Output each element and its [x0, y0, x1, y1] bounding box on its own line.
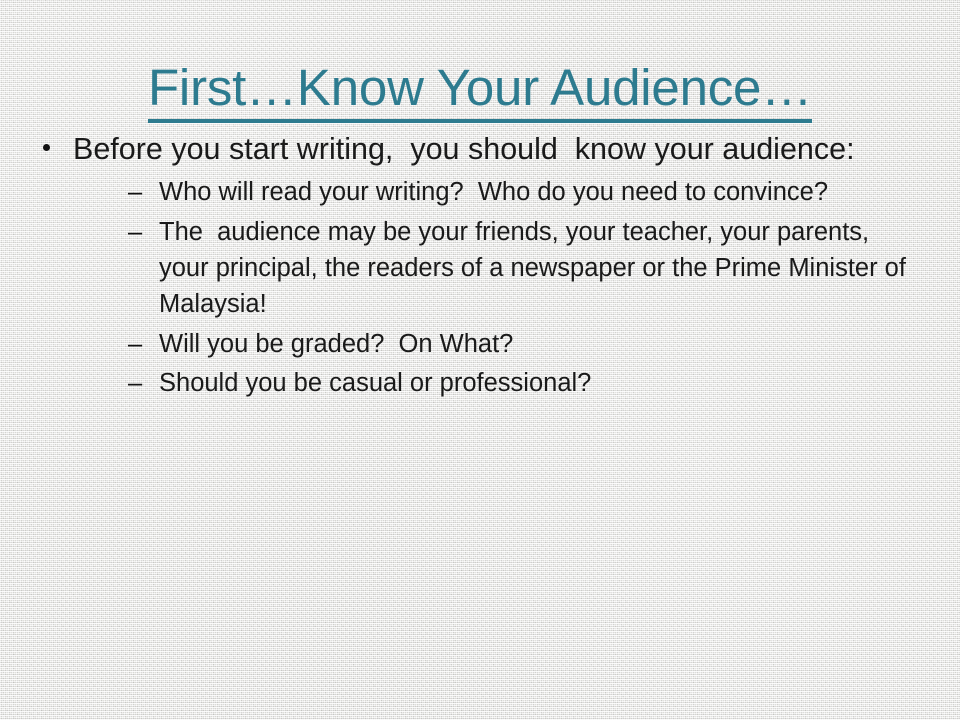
en-dash-bullet-icon: –: [128, 174, 149, 210]
page-title: First…Know Your Audience…: [148, 62, 812, 123]
list-item: – Who will read your writing? Who do you…: [73, 174, 924, 210]
bullet-text: Before you start writing, you should kno…: [73, 128, 924, 170]
slide-body-block: Before you start writing, you should kno…: [34, 128, 924, 405]
en-dash-bullet-icon: –: [128, 326, 149, 362]
slide-content-area: First…Know Your Audience… Before you sta…: [0, 0, 960, 720]
presentation-slide: First…Know Your Audience… Before you sta…: [0, 0, 960, 720]
sub-bullet-text: Will you be graded? On What?: [159, 326, 924, 362]
list-item: – The audience may be your friends, your…: [73, 214, 924, 323]
list-item: – Should you be casual or professional?: [73, 365, 924, 401]
bullet-list-level-1: Before you start writing, you should kno…: [34, 128, 924, 402]
sub-bullet-text: Should you be casual or professional?: [159, 365, 924, 401]
en-dash-bullet-icon: –: [128, 365, 149, 401]
list-item: – Will you be graded? On What?: [73, 326, 924, 362]
en-dash-bullet-icon: –: [128, 214, 149, 250]
sub-bullet-text: The audience may be your friends, your t…: [159, 214, 924, 323]
bullet-list-level-2: – Who will read your writing? Who do you…: [73, 174, 924, 402]
sub-bullet-text: Who will read your writing? Who do you n…: [159, 174, 924, 210]
list-item: Before you start writing, you should kno…: [34, 128, 924, 402]
round-bullet-icon: [43, 144, 50, 151]
